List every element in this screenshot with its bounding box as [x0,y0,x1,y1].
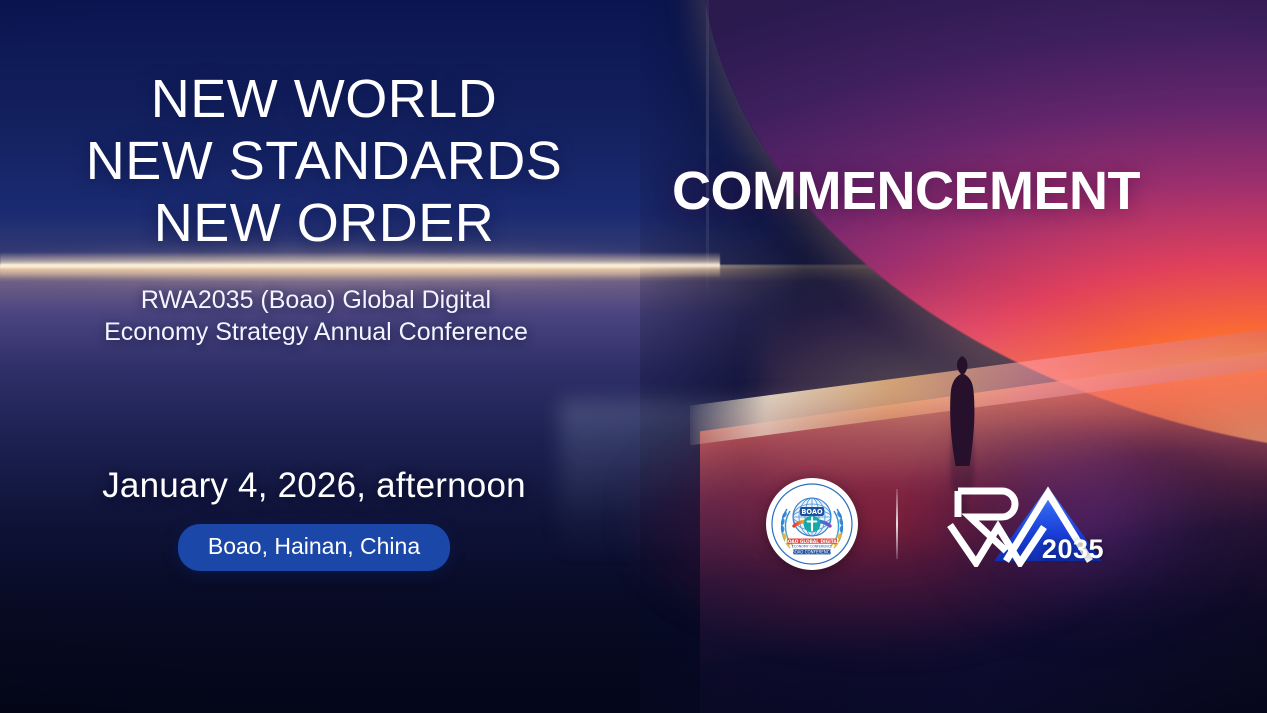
emblem-text-cn: BOAO CONFERENCE [792,549,833,554]
headline-line-2: NEW STANDARDS [0,130,648,192]
subtitle-line-1: RWA2035 (Boao) Global Digital [0,284,632,316]
status-badge-location: Boao, Hainan, China [178,524,450,571]
commencement-title: COMMENCEMENT [672,160,1232,222]
panel-seam [706,0,709,300]
emblem-globe-label: BOAO [801,508,823,516]
headline-line-3: NEW ORDER [0,192,648,254]
rwa-year-label: 2035 [1042,534,1104,565]
emblem-text-en-2: ECONOMY CONFERENCE [792,545,833,549]
rwa-logo: 2035 [936,481,1106,567]
subtitle-line-2: Economy Strategy Annual Conference [0,316,632,348]
location-badge-wrapper: Boao, Hainan, China [0,524,628,571]
headline-line-1: NEW WORLD [0,68,648,130]
boao-conference-emblem-icon: BOAO BOAO GLOBAL DIGITAL ECONOMY CONFERE… [766,478,858,570]
conference-subtitle: RWA2035 (Boao) Global Digital Economy St… [0,284,632,348]
logo-divider [896,489,898,559]
horizon-light-line [0,252,720,278]
person-silhouette [942,352,988,468]
page-title: NEW WORLD NEW STANDARDS NEW ORDER [0,68,648,254]
logo-lockup: BOAO BOAO GLOBAL DIGITAL ECONOMY CONFERE… [766,478,1106,570]
conference-banner: NEW WORLD NEW STANDARDS NEW ORDER RWA203… [0,0,1267,713]
event-date: January 4, 2026, afternoon [0,466,628,506]
